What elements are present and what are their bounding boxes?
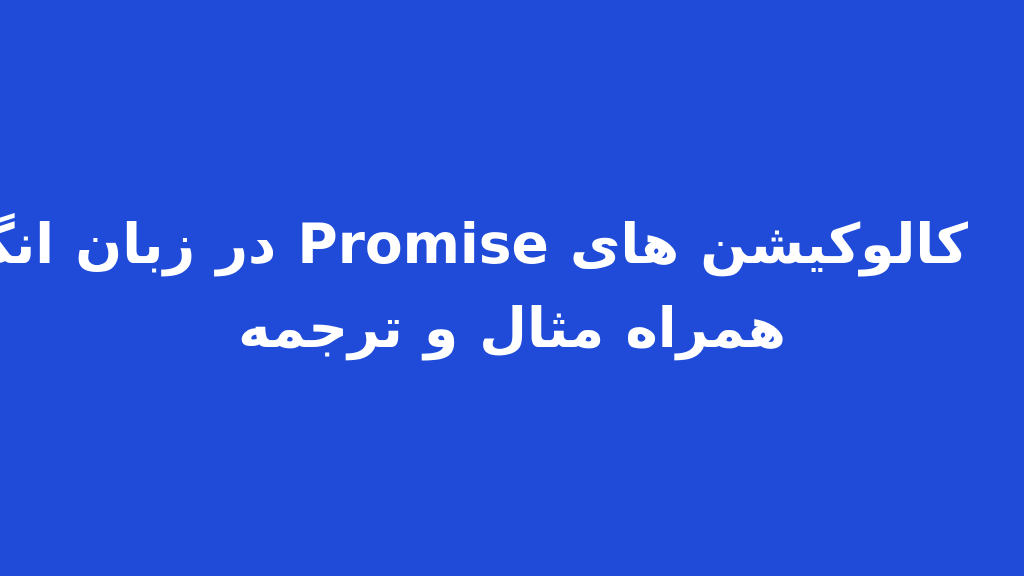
page-title-line-1: کالوکیشن های Promise در زبان انگلیسی به bbox=[56, 202, 968, 286]
page-title: کالوکیشن های Promise در زبان انگلیسی به … bbox=[0, 202, 1024, 370]
page-title-line-2: همراه مثال و ترجمه bbox=[56, 286, 968, 370]
title-card: کالوکیشن های Promise در زبان انگلیسی به … bbox=[0, 0, 1024, 576]
